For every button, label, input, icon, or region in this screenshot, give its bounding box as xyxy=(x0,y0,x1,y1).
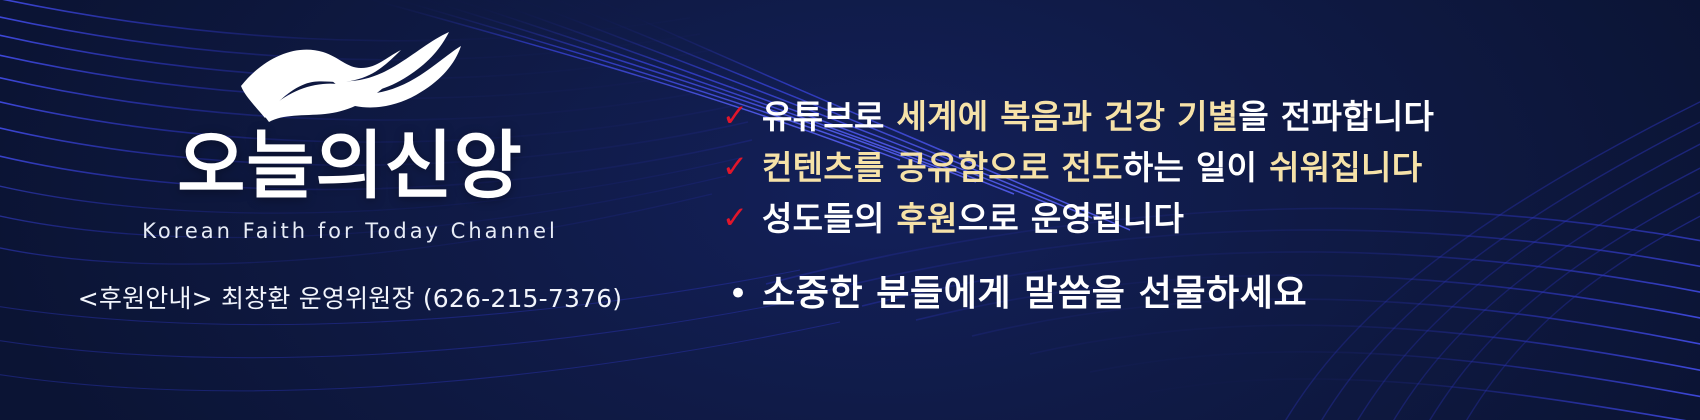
bullet-text-segment: 유튜브로 xyxy=(762,97,896,136)
bullet-text-segment: 소중한 분들에게 말씀을 선물하세요 xyxy=(762,273,1307,314)
bullet-text: 소중한 분들에게 말씀을 선물하세요 xyxy=(762,271,1307,317)
brand-block: 오늘의신앙 Korean Faith for Today Channel <후원… xyxy=(0,0,700,420)
bullet-text-segment: 을 전파합니다 xyxy=(1238,97,1434,136)
bullet-text-segment: 으로 운영됩니다 xyxy=(958,199,1184,238)
brand-title: 오늘의신앙 xyxy=(177,129,522,203)
bullet-row: ✓성도들의 후원으로 운영됩니다 xyxy=(722,198,1662,240)
bullet-row: ✓유튜브로 세계에 복음과 건강 기별을 전파합니다 xyxy=(722,96,1662,138)
wave-hand-logo-icon xyxy=(235,22,465,127)
bullet-text-segment: 컨텐츠를 공유함으로 전도 xyxy=(762,148,1123,187)
bullet-text-segment: 하는 일이 xyxy=(1123,148,1269,187)
bullet-text-segment: 후원 xyxy=(896,199,957,238)
bullet-text: 컨텐츠를 공유함으로 전도하는 일이 쉬워집니다 xyxy=(762,147,1422,189)
check-icon: ✓ xyxy=(722,152,762,183)
bullet-row: ✓컨텐츠를 공유함으로 전도하는 일이 쉬워집니다 xyxy=(722,147,1662,189)
promo-banner: 오늘의신앙 Korean Faith for Today Channel <후원… xyxy=(0,0,1700,420)
bullet-text: 유튜브로 세계에 복음과 건강 기별을 전파합니다 xyxy=(762,96,1434,138)
brand-subtitle: Korean Faith for Today Channel xyxy=(142,219,558,243)
bullet-text-segment: 세계에 복음과 건강 기별 xyxy=(896,97,1238,136)
check-icon: ✓ xyxy=(722,101,762,132)
dot-icon: • xyxy=(722,277,762,311)
check-icon: ✓ xyxy=(722,203,762,234)
bullet-text: 성도들의 후원으로 운영됩니다 xyxy=(762,198,1184,240)
bullet-row: •소중한 분들에게 말씀을 선물하세요 xyxy=(722,271,1662,317)
bullet-text-segment: 성도들의 xyxy=(762,199,896,238)
bullet-text-segment: 쉬워집니다 xyxy=(1269,148,1422,187)
sponsorship-contact: <후원안내> 최창환 운영위원장 (626-215-7376) xyxy=(78,279,623,315)
benefits-list: ✓유튜브로 세계에 복음과 건강 기별을 전파합니다✓컨텐츠를 공유함으로 전도… xyxy=(722,96,1662,317)
